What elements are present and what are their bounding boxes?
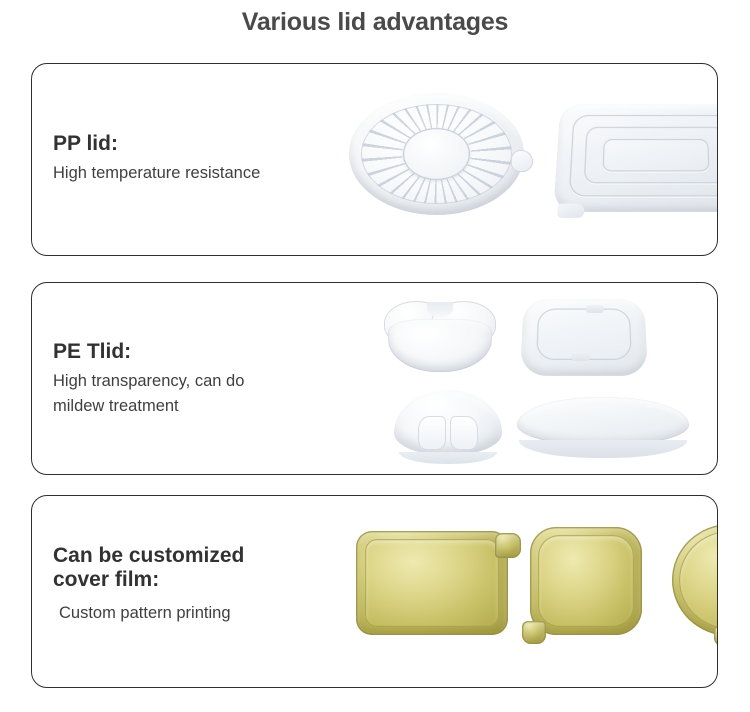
pp-lid-pull-tab — [511, 150, 533, 172]
pe-dome-facet-left — [418, 416, 446, 450]
card-pe-lid-artwork — [332, 283, 717, 474]
pe-dome-cap — [394, 390, 502, 455]
pe-heart-body — [388, 319, 491, 372]
card-pp-lid: PP lid: High temperature resistance — [31, 63, 718, 256]
foil-square-inner-panel — [538, 535, 634, 628]
card-pp-lid-heading: PP lid: — [53, 132, 353, 156]
foil-rect-inner-panel — [365, 539, 499, 626]
pp-lid-center-hub — [403, 128, 470, 179]
gold-foil-rectangular-cover-image — [356, 531, 508, 635]
card-cover-film-heading: Can be customized cover film: — [53, 544, 353, 591]
pe-square-notch-top — [586, 305, 604, 313]
page-title: Various lid advantages — [0, 8, 750, 37]
card-pe-lid-heading: PE Tlid: — [53, 340, 353, 364]
foil-circle-pull-tab — [714, 626, 718, 646]
foil-square-pull-tab — [522, 621, 546, 644]
card-cover-film-artwork — [332, 496, 717, 687]
heart-shaped-pe-lid-image — [384, 299, 496, 375]
pe-square-notch-bottom — [571, 352, 589, 361]
card-cover-film-text: Can be customized cover film: Custom pat… — [53, 544, 353, 627]
pe-dome-foot-ring — [399, 452, 496, 464]
dome-pe-lid-image — [394, 390, 502, 464]
card-pe-lid-text: PE Tlid: High transparency, can do milde… — [53, 340, 353, 420]
oval-flat-pe-lid-image — [517, 397, 689, 459]
card-pe-lid: PE Tlid: High transparency, can do milde… — [31, 282, 718, 475]
foil-rect-pull-tab — [495, 533, 521, 558]
pe-oval-top — [517, 397, 689, 445]
rectangular-pp-lid-image — [553, 104, 718, 212]
card-pp-lid-artwork — [332, 64, 717, 255]
card-cover-film-subtext: Custom pattern printing — [53, 601, 353, 627]
card-pe-lid-subtext: High transparency, can do mildew treatme… — [53, 369, 353, 420]
round-ribbed-pp-lid-image — [349, 93, 524, 215]
square-pe-lid-image — [520, 299, 649, 376]
pp-rect-corner-tab — [557, 204, 585, 218]
gold-foil-round-cover-image — [672, 524, 718, 636]
card-cover-film: Can be customized cover film: Custom pat… — [31, 495, 718, 688]
pp-rect-ridge-inner — [602, 139, 710, 171]
pe-dome-facet-right — [450, 416, 478, 450]
gold-foil-square-cover-image — [530, 527, 642, 635]
card-pp-lid-subtext: High temperature resistance — [53, 161, 353, 187]
pe-oval-skirt-lip — [519, 440, 688, 457]
card-pp-lid-text: PP lid: High temperature resistance — [53, 132, 353, 186]
